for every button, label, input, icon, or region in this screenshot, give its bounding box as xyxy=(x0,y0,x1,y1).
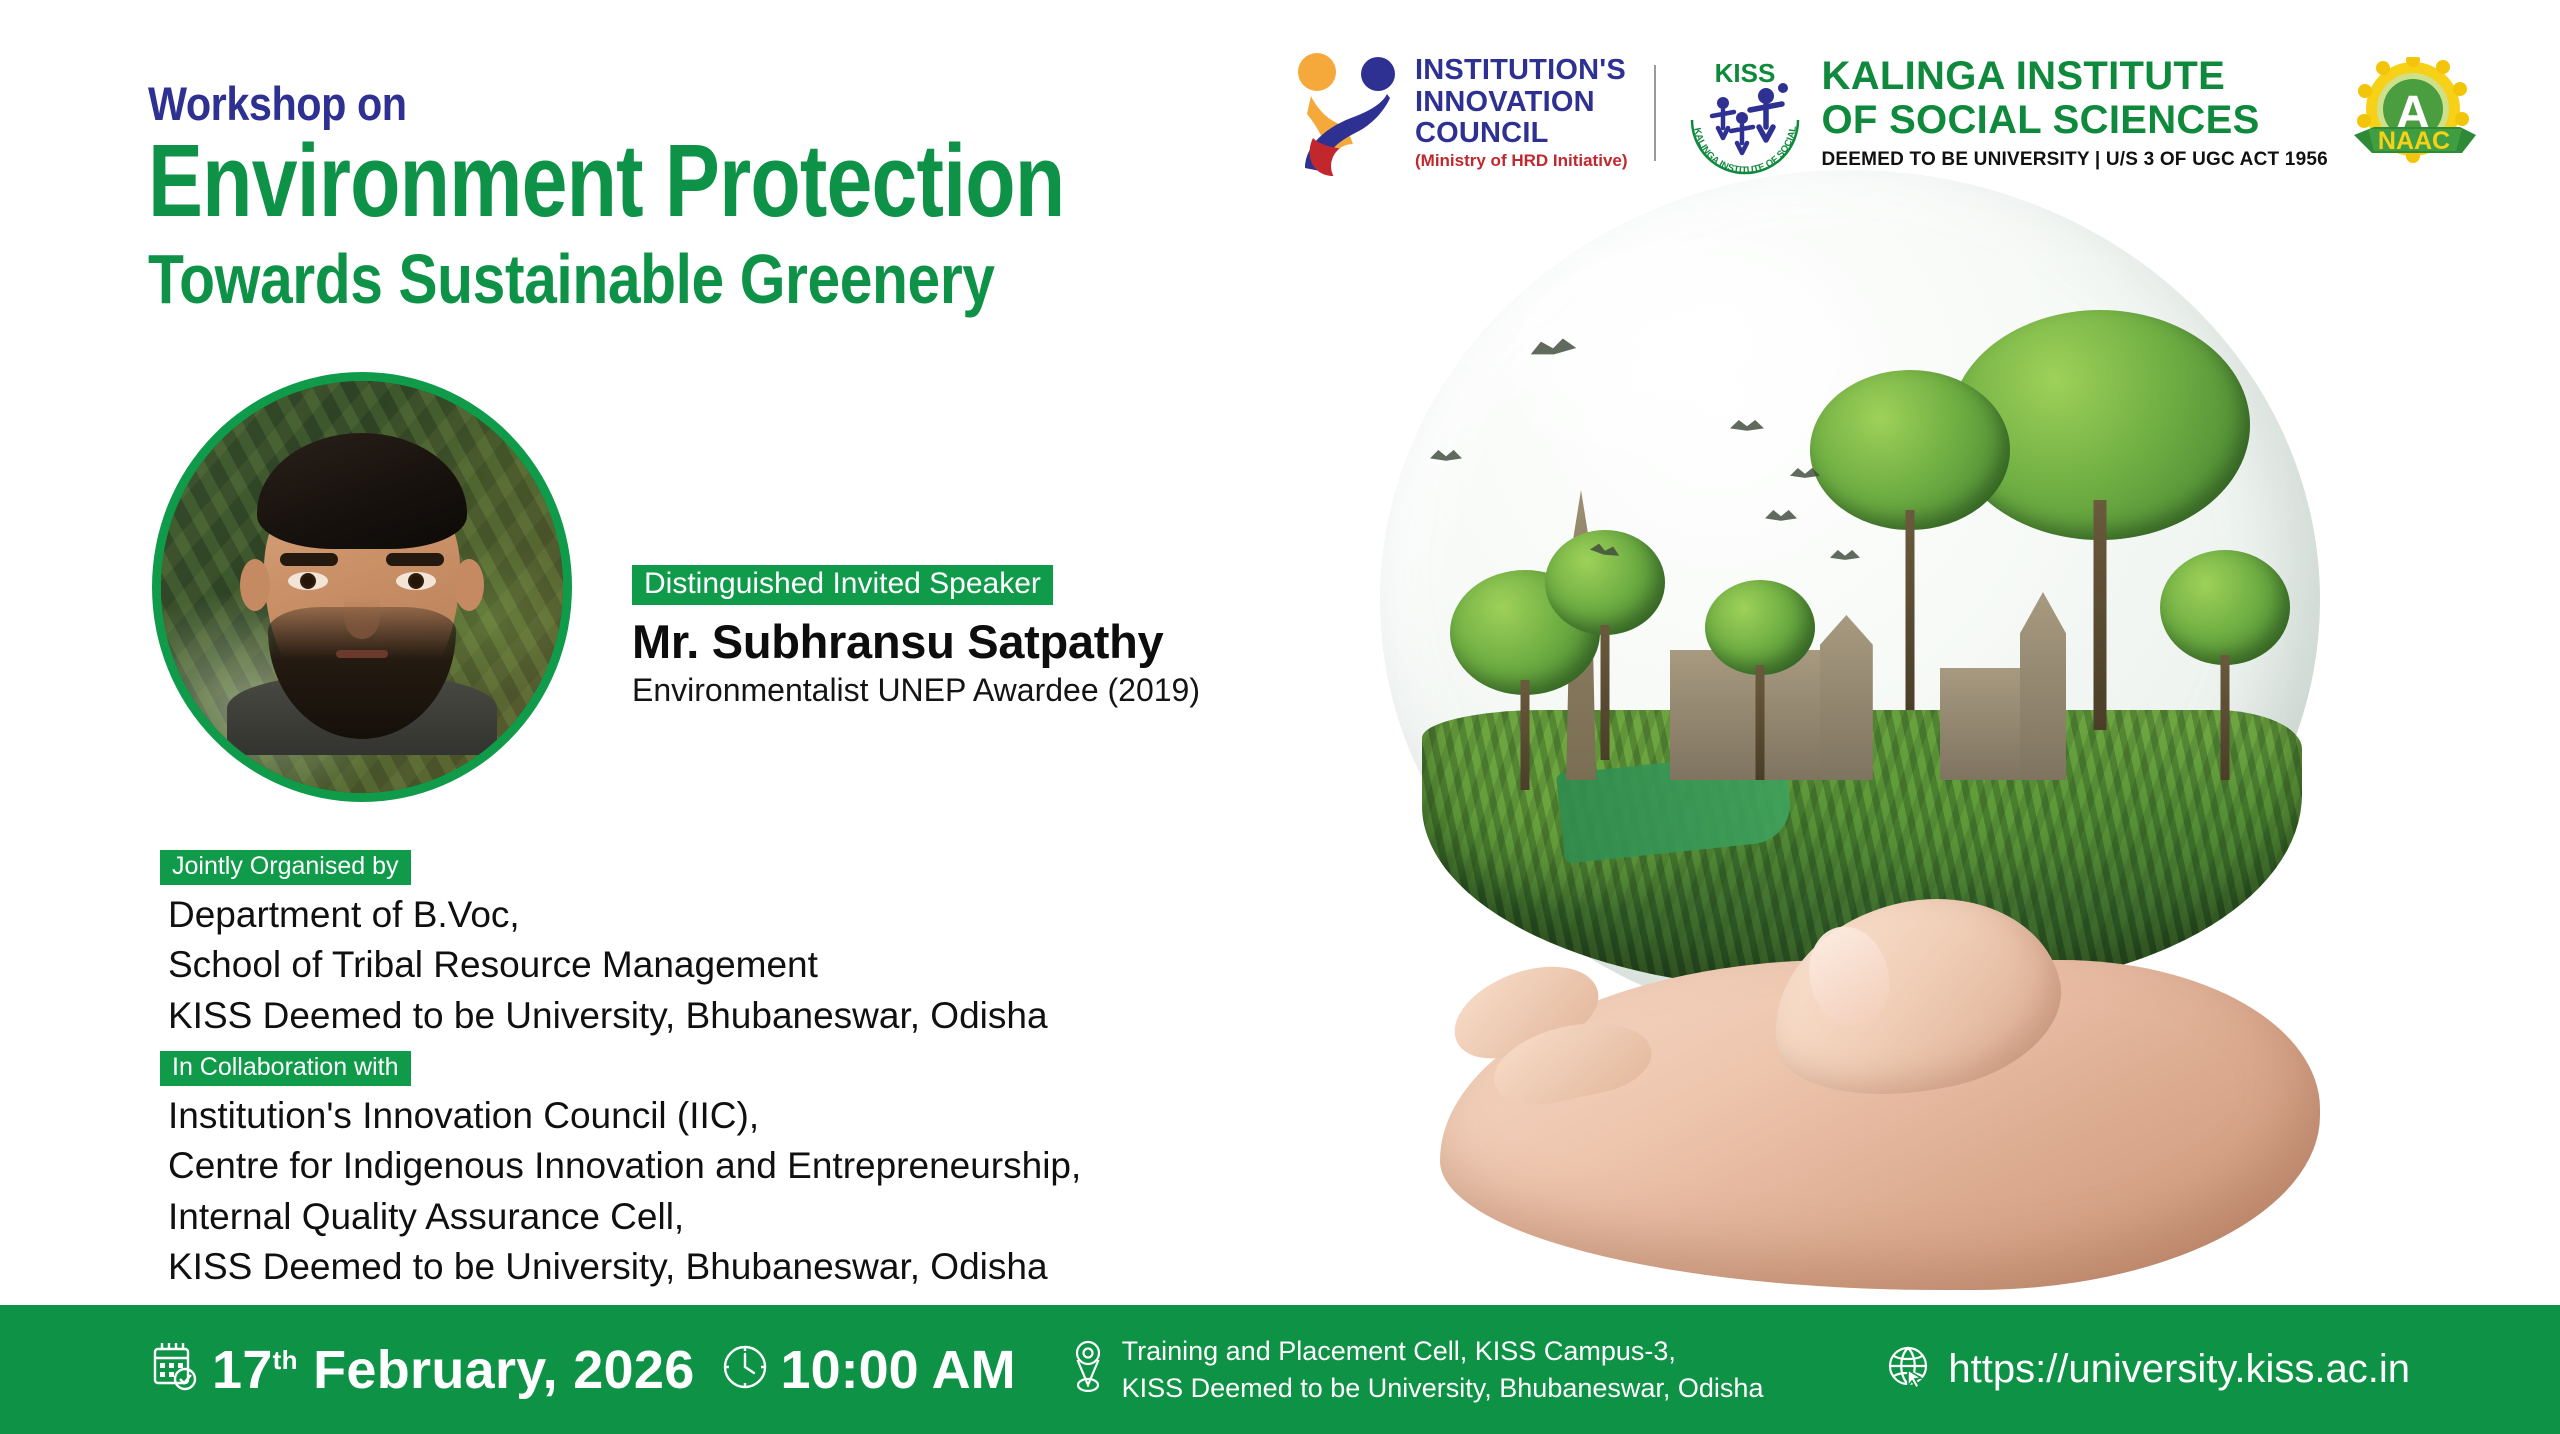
collaboration-line: Institution's Innovation Council (IIC), xyxy=(168,1091,1081,1141)
organiser-line: Department of B.Voc, xyxy=(168,890,1048,940)
event-date-suffix: th xyxy=(273,1345,298,1375)
page-subtitle: Towards Sustainable Greenery xyxy=(148,243,995,317)
event-date-day: 17 xyxy=(212,1340,273,1400)
kiss-name-line-2: OF SOCIAL SCIENCES xyxy=(1822,99,2328,142)
event-venue-text: Training and Placement Cell, KISS Campus… xyxy=(1122,1333,1764,1406)
collaboration-line: Internal Quality Assurance Cell, xyxy=(168,1192,1081,1242)
tree xyxy=(1545,530,1665,760)
footer-bar: 17th February, 2026 10:00 AM xyxy=(0,1305,2560,1434)
organisers-badge-label: Jointly Organised by xyxy=(160,850,411,885)
tree xyxy=(1705,580,1815,780)
calendar-icon xyxy=(152,1341,198,1398)
speaker-badge-label: Distinguished Invited Speaker xyxy=(632,565,1053,605)
event-date-rest: February, 2026 xyxy=(298,1340,695,1400)
event-time-text: 10:00 AM xyxy=(781,1339,1016,1401)
kiss-name-line-1: KALINGA INSTITUTE xyxy=(1822,55,2328,98)
website-link[interactable]: https://university.kiss.ac.in xyxy=(1886,1344,2410,1395)
organisers-badge: Jointly Organised by xyxy=(160,850,411,885)
collaboration-line: KISS Deemed to be University, Bhubaneswa… xyxy=(168,1242,1081,1292)
speaker-role: Environmentalist UNEP Awardee (2019) xyxy=(632,672,1200,709)
website-url[interactable]: https://university.kiss.ac.in xyxy=(1948,1347,2410,1392)
tree xyxy=(2160,550,2290,780)
iic-line-2: INNOVATION xyxy=(1415,87,1628,118)
speaker-badge: Distinguished Invited Speaker xyxy=(632,565,1053,605)
speaker-avatar xyxy=(152,372,572,802)
hands-holding xyxy=(1440,850,2450,1310)
event-venue: Training and Placement Cell, KISS Campus… xyxy=(1068,1333,1764,1406)
collaboration-list: Institution's Innovation Council (IIC), … xyxy=(168,1091,1081,1292)
venue-line-2: KISS Deemed to be University, Bhubaneswa… xyxy=(1122,1370,1764,1406)
event-date-text: 17th February, 2026 xyxy=(212,1339,695,1401)
speaker-name: Mr. Subhransu Satpathy xyxy=(632,614,1163,669)
logo-divider xyxy=(1654,65,1656,161)
page-title: Environment Protection xyxy=(148,128,1064,233)
kiss-emblem-acronym: KISS xyxy=(1714,58,1775,88)
collaboration-line: Centre for Indigenous Innovation and Ent… xyxy=(168,1141,1081,1191)
collaboration-badge: In Collaboration with xyxy=(160,1051,411,1086)
tree xyxy=(1810,370,2010,710)
location-pin-icon xyxy=(1068,1339,1108,1400)
portrait-face xyxy=(246,421,478,721)
iic-line-3: COUNCIL xyxy=(1415,118,1628,149)
poster-canvas: Workshop on Environment Protection Towar… xyxy=(0,0,2560,1434)
collaboration-badge-label: In Collaboration with xyxy=(160,1051,411,1086)
venue-line-1: Training and Placement Cell, KISS Campus… xyxy=(1122,1333,1764,1369)
clock-icon xyxy=(721,1343,769,1396)
organiser-line: School of Tribal Resource Management xyxy=(168,940,1048,990)
event-time: 10:00 AM xyxy=(721,1339,1016,1401)
organisers-list: Department of B.Voc, School of Tribal Re… xyxy=(168,890,1048,1041)
event-date: 17th February, 2026 xyxy=(152,1339,695,1401)
globe-icon xyxy=(1886,1344,1932,1395)
hero-illustration xyxy=(1330,150,2520,1310)
iic-line-1: INSTITUTION'S xyxy=(1415,55,1628,86)
organiser-line: KISS Deemed to be University, Bhubaneswa… xyxy=(168,991,1048,1041)
